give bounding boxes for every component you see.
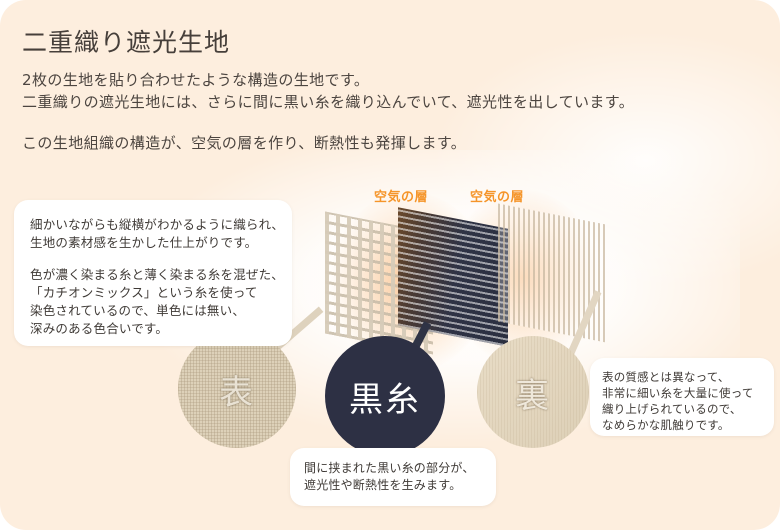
swatch-circle-back: 裏 [477,336,589,448]
callout-back: 表の質感とは異なって、 非常に細い糸を大量に使って 織り上げられているので、 な… [590,358,774,436]
callout-front-line-2: 生地の素材感を生かした仕上がりです。 [30,234,276,252]
callout-front-line-3: 色が濃く染まる糸と薄く染まる糸を混ぜた、 [30,266,276,284]
intro-line-1: 2枚の生地を貼り合わせたような構造の生地です。 [22,70,369,90]
callout-front-line-4: 「カチオンミックス」という糸を使って [30,284,276,302]
intro-line-3: この生地組織の構造が、空気の層を作り、断熱性も発揮します。 [22,133,466,153]
swatch-circle-black-yarn: 黒糸 [325,336,445,456]
swatch-label-front: 表 [219,365,255,414]
callout-front: 細かいながらも縦横がわかるように織られ、 生地の素材感を生かした仕上がりです。 … [14,200,292,346]
swatch-circle-front: 表 [178,330,296,448]
callout-black-yarn: 間に挟まれた黒い糸の部分が、 遮光性や断熱性を生みます。 [290,448,496,506]
fabric-layer-back [498,204,606,343]
air-layer-label-1: 空気の層 [374,186,428,205]
intro-line-2: 二重織りの遮光生地には、さらに間に黒い糸を織り込んでいて、遮光性を出しています。 [22,92,634,112]
callout-black-line-1: 間に挟まれた黒い糸の部分が、 [304,460,482,477]
fabric-explainer-page: 二重織り遮光生地 2枚の生地を貼り合わせたような構造の生地です。 二重織りの遮光… [0,0,780,530]
callout-back-line-4: なめらかな肌触りです。 [602,417,762,433]
swatch-label-black-yarn: 黒糸 [349,372,421,421]
swatch-label-back: 裏 [515,368,551,417]
page-title: 二重織り遮光生地 [22,23,230,59]
callout-back-line-3: 織り上げられているので、 [602,401,762,417]
air-layer-label-2: 空気の層 [470,186,524,205]
callout-back-line-1: 表の質感とは異なって、 [602,369,762,385]
callout-black-line-2: 遮光性や断熱性を生みます。 [304,477,482,494]
callout-back-line-2: 非常に細い糸を大量に使って [602,385,762,401]
callout-front-line-5: 染色されているので、単色には無い、 [30,302,276,320]
fabric-layer-black-yarn [398,207,508,346]
callout-front-line-6: 深みのある色合いです。 [30,320,276,338]
callout-front-line-1: 細かいながらも縦横がわかるように織られ、 [30,216,276,234]
